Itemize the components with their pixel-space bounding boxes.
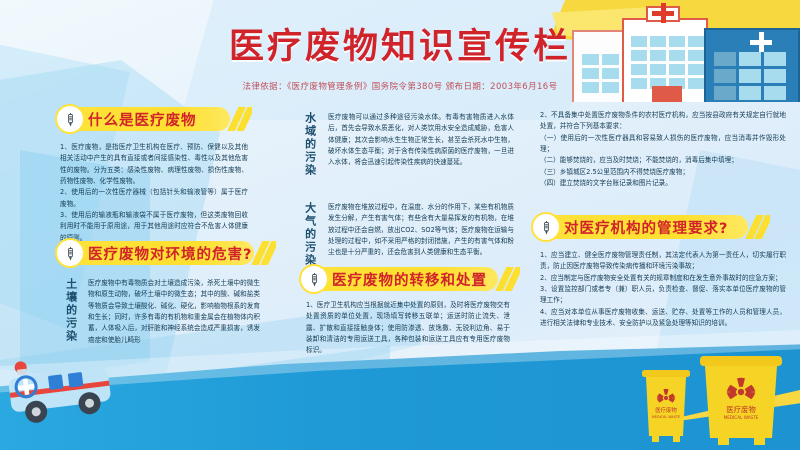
section-header-transfer-and-disposal[interactable]: 医疗废物的转移和处置 — [302, 266, 498, 292]
svg-text:MEDICAL WASTE: MEDICAL WASTE — [724, 415, 759, 420]
section-header-management-requirements[interactable]: 对医疗机构的管理要求? — [534, 214, 748, 240]
paragraph: （三）乡镇城区2.5公里范围内不得焚烧医疗废物； — [540, 167, 786, 178]
paragraph: 1、医疗卫生机构应当根据就近集中处置的原则，及时将医疗废物交有处置资质的单位处置… — [306, 300, 510, 357]
section-body-management-requirements: 1、应当建立、健全医疗废物管理责任制，其法定代表人为第一责任人，切实履行职责，防… — [540, 250, 786, 329]
syringe-icon — [531, 212, 561, 242]
paragraph: 2、应当制定与医疗废物安全处置有关的规章制度和在发生意外事故时的应急方案； — [540, 273, 786, 284]
legal-basis-subtitle: 法律依据：《医疗废物管理条例》国务院令第380号 颁布日期：2003年6月16号 — [0, 80, 800, 92]
paragraph: 医疗废物在堆放过程中，在温度、水分的作用下，某些有机物质发生分解，产生有害气体；… — [328, 202, 514, 259]
section-body-water-pollution: 医疗废物可以通过多种途径污染水体。有毒有害物质进入水体后，首先会导致水质恶化，对… — [328, 112, 514, 169]
section-body-what-is-medical-waste: 1、医疗废物，是指医疗卫生机构在医疗、预防、保健以及其他相关活动中产生的具有直接… — [60, 142, 248, 244]
paragraph: 2、不具备集中处置医疗废物条件的农村医疗机构，应当按县政府有关规定自行就地处置，… — [540, 110, 786, 133]
paragraph: 3、设置监控部门或者专（兼）职人员，负责检查、督促、落实本单位医疗废物的管理工作… — [540, 284, 786, 307]
vertical-label-soil-pollution: 土壤的污染 — [64, 278, 77, 354]
waste-bin-large: 医疗废物 MEDICAL WASTE — [700, 356, 782, 445]
section-header-what-is-medical-waste[interactable]: 什么是医疗废物 — [58, 106, 230, 132]
syringe-icon — [299, 264, 329, 294]
paragraph: （二）能够焚烧的，应当及时焚烧；不能焚烧的，消毒后集中填埋； — [540, 155, 786, 166]
paragraph: 1、应当建立、健全医疗废物管理责任制，其法定代表人为第一责任人，切实履行职责，防… — [540, 250, 786, 273]
paragraph: 3、使用后的输液瓶和输液袋不属于医疗废物，但这类废物回收利用时不能用于原用途，用… — [60, 210, 248, 244]
page-title: 医疗废物知识宣传栏 — [0, 18, 800, 69]
title-block: 医疗废物知识宣传栏 法律依据：《医疗废物管理条例》国务院令第380号 颁布日期：… — [0, 18, 800, 92]
section-title: 医疗废物的转移和处置 — [332, 269, 487, 290]
paragraph: 医疗废物中有毒物质会对土壤造成污染，杀死土壤中的微生物和原生动物，破坏土壤中的微… — [88, 278, 260, 346]
ambulance-illustration — [2, 349, 130, 435]
section-title: 什么是医疗废物 — [88, 109, 197, 130]
section-body-transfer-and-disposal: 1、医疗卫生机构应当根据就近集中处置的原则，及时将医疗废物交有处置资质的单位处置… — [306, 300, 510, 357]
section-body-rural-disposal: 2、不具备集中处置医疗废物条件的农村医疗机构，应当按县政府有关规定自行就地处置，… — [540, 110, 786, 189]
section-title: 对医疗机构的管理要求? — [564, 217, 728, 238]
syringe-icon — [55, 104, 85, 134]
paragraph: 1、医疗废物，是指医疗卫生机构在医疗、预防、保健以及其他相关活动中产生的具有直接… — [60, 142, 248, 187]
section-body-air-pollution: 医疗废物在堆放过程中，在温度、水分的作用下，某些有机物质发生分解，产生有害气体；… — [328, 202, 514, 259]
vertical-label-water-pollution: 水域的污染 — [303, 112, 316, 186]
paragraph: （四）建立焚烧的文字台账记录和图片记录。 — [540, 178, 786, 189]
paragraph: 2、使用后的一次性医疗器械（包括针头和输液管等）属于医疗废物。 — [60, 187, 248, 210]
svg-text:MEDICAL WASTE: MEDICAL WASTE — [652, 415, 680, 419]
paragraph: （一）使用后的一次性医疗器具和容易致人损伤的医疗废物，应当消毒并作毁形处理； — [540, 133, 786, 156]
section-body-harm-to-environment: 医疗废物中有毒物质会对土壤造成污染，杀死土壤中的微生物和原生动物，破坏土壤中的微… — [88, 278, 260, 346]
poster-canvas: 医疗废物知识宣传栏 法律依据：《医疗废物管理条例》国务院令第380号 颁布日期：… — [0, 0, 800, 450]
paragraph: 医疗废物可以通过多种途径污染水体。有毒有害物质进入水体后，首先会导致水质恶化，对… — [328, 112, 514, 169]
syringe-icon — [55, 238, 85, 268]
waste-bin-small: 医疗废物 MEDICAL WASTE — [642, 370, 690, 442]
section-header-harm-to-environment[interactable]: 医疗废物对环境的危害? — [58, 240, 254, 266]
paragraph: 4、应当对本单位从事医疗废物收集、运送、贮存、处置等工作的人员和管理人员，进行相… — [540, 307, 786, 330]
svg-text:医疗废物: 医疗废物 — [655, 406, 677, 414]
medical-waste-bins-illustration: 医疗废物 MEDICAL WASTE — [638, 354, 788, 446]
section-title: 医疗废物对环境的危害? — [88, 243, 252, 264]
svg-text:医疗废物: 医疗废物 — [726, 405, 756, 414]
